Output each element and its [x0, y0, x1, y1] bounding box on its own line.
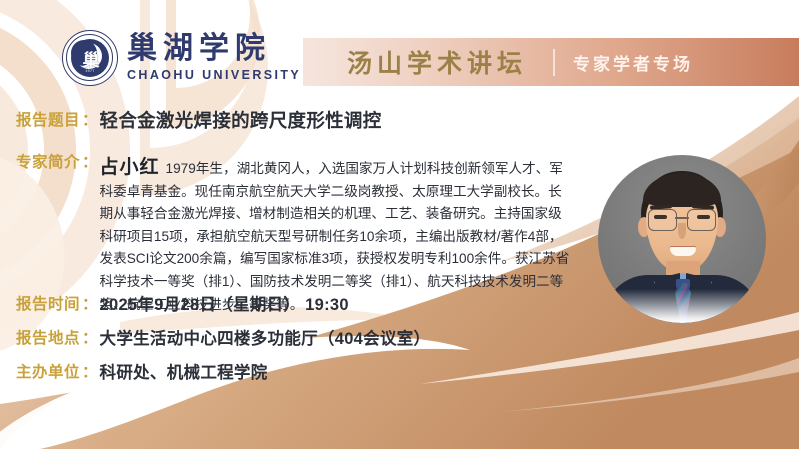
report-time-row: 报告时间 ： 2025年9月28日（星期日） 19:30 — [16, 294, 349, 316]
forum-banner: 汤山学术讲坛 专家学者专场 — [303, 38, 799, 86]
university-name-en: CHAOHU UNIVERSITY — [127, 69, 301, 82]
forum-title: 汤山学术讲坛 — [347, 44, 527, 80]
poster-header: 巢 1977 巢湖学院 CHAOHU UNIVERSITY 汤山学术讲坛 专家学… — [0, 0, 799, 106]
report-place-label: 报告地点 — [16, 328, 80, 350]
report-time-label: 报告时间 — [16, 294, 80, 316]
host-unit-colon: ： — [80, 362, 100, 384]
speaker-bio-colon: ： — [80, 152, 100, 174]
report-title-row: 报告题目 ： 轻合金激光焊接的跨尺度形性调控 — [16, 110, 382, 132]
seal-glyph: 巢 — [63, 31, 117, 85]
speaker-portrait — [598, 155, 766, 323]
speaker-bio-label: 专家简介 — [16, 152, 80, 174]
report-place-row: 报告地点 ： 大学生活动中心四楼多功能厅（404会议室） — [16, 328, 430, 350]
speaker-bio-text: 1979年生，湖北黄冈人，入选国家万人计划科技创新领军人才、军科委卓青基金。现任… — [100, 161, 570, 312]
forum-subtitle: 专家学者专场 — [573, 50, 693, 75]
report-time-value: 2025年9月28日（星期日） 19:30 — [100, 294, 349, 316]
report-title-value: 轻合金激光焊接的跨尺度形性调控 — [100, 110, 382, 132]
chaohu-university-seal-icon: 巢 1977 — [62, 30, 118, 86]
report-time-colon: ： — [80, 294, 100, 316]
host-unit-row: 主办单位 ： 科研处、机械工程学院 — [16, 362, 268, 384]
report-place-colon: ： — [80, 328, 100, 350]
report-place-value: 大学生活动中心四楼多功能厅（404会议室） — [100, 328, 431, 350]
portrait-fringe — [643, 173, 721, 207]
host-unit-value: 科研处、机械工程学院 — [100, 362, 268, 384]
portrait-nose — [678, 223, 686, 239]
portrait-fade — [598, 289, 766, 323]
seal-year: 1977 — [63, 69, 117, 73]
banner-divider — [553, 49, 555, 76]
university-name-cn: 巢湖学院 — [127, 34, 301, 64]
report-title-label: 报告题目 — [16, 110, 80, 132]
speaker-bio-row: 专家简介 ： 占小红1979年生，湖北黄冈人，入选国家万人计划科技创新领军人才、… — [16, 152, 572, 316]
university-logo: 巢 1977 巢湖学院 CHAOHU UNIVERSITY — [62, 30, 301, 86]
seminar-poster: 巢 1977 巢湖学院 CHAOHU UNIVERSITY 汤山学术讲坛 专家学… — [0, 0, 799, 449]
portrait-mouth — [670, 247, 696, 256]
speaker-name: 占小红 — [100, 157, 160, 178]
report-title-colon: ： — [80, 110, 100, 132]
host-unit-label: 主办单位 — [16, 362, 80, 384]
